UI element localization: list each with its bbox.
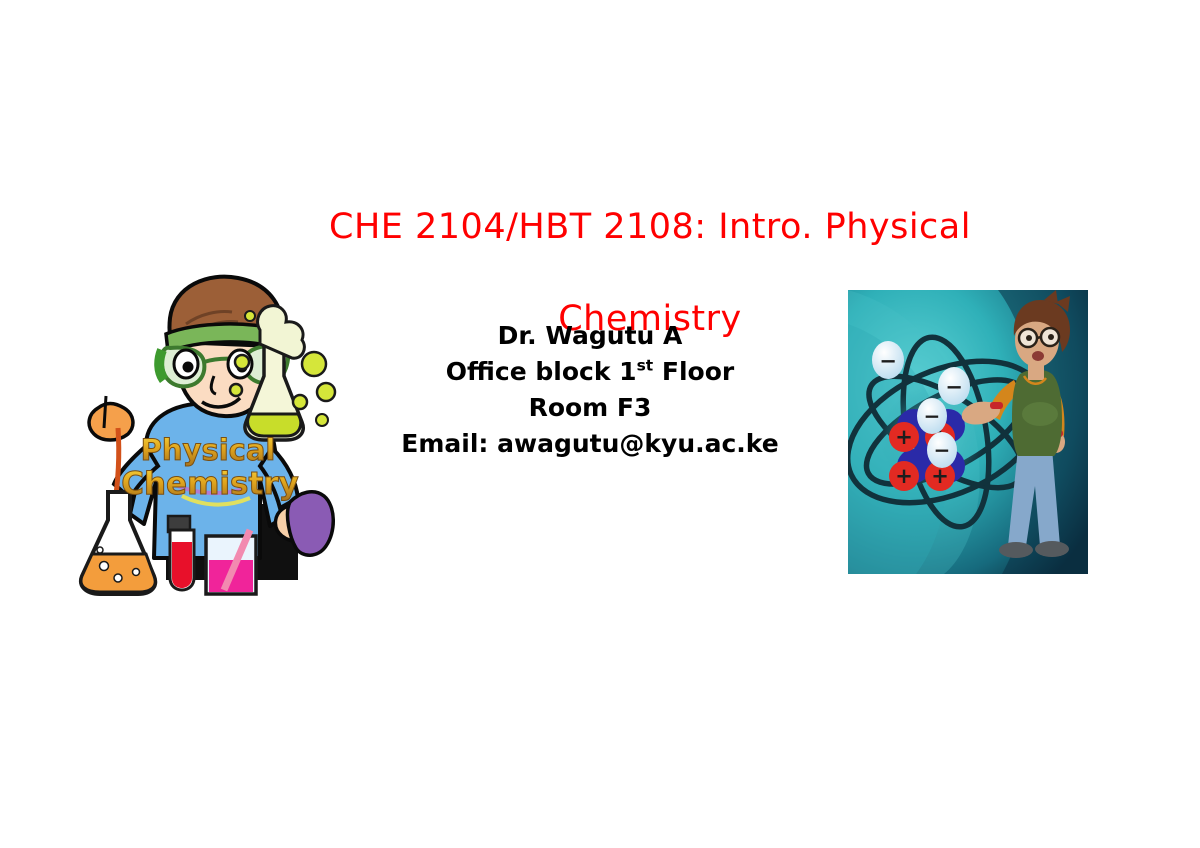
eye-right [1048,334,1054,340]
red-test-tube [168,516,194,590]
orange-bubble-3 [133,569,140,576]
electron-4-symbol: − [934,438,951,462]
presenter-details: Dr. Wagutu A Office block 1st Floor Room… [330,318,850,462]
eye-left [1026,335,1032,341]
shoe-left [999,542,1033,558]
caption-line-1: Physical [141,433,276,467]
office-location-suffix: Floor [653,357,734,386]
orange-bubble-2 [114,574,122,582]
bubble-3 [235,355,249,369]
orange-bubble-4 [97,547,103,553]
slide-canvas: CHE 2104/HBT 2108: Intro. Physical Chemi… [0,0,1200,848]
orange-bubble-1 [100,562,109,571]
atom-presenter-image: + + + + − − − − [848,290,1088,574]
orange-flask-liquid [81,554,155,592]
atom-presenter-svg: + + + + − − − − [848,290,1088,574]
bubble-4 [230,384,242,396]
title-line-1: CHE 2104/HBT 2108: Intro. Physical [300,204,1000,250]
proton-3-symbol: + [895,464,913,488]
shoe-right [1035,541,1069,557]
proton-1-symbol: + [895,425,913,449]
bubble-5 [293,395,307,409]
goggle-side-left [159,350,164,380]
glasses-bridge [1037,337,1041,338]
mouth [1032,351,1044,361]
ordinal-suffix: st [637,357,654,375]
pink-beaker [206,530,256,594]
email-address: Email: awagutu@kyu.ac.ke [330,426,850,462]
electron-3-symbol: − [924,404,941,428]
chemistry-boy-svg: Physical Chemistry [74,268,346,598]
shirt-highlight [1022,402,1058,426]
chemistry-boy-clipart: Physical Chemistry [74,268,346,598]
office-location-prefix: Office block 1 [446,357,637,386]
bubble-6 [245,311,255,321]
bubble-2 [317,383,335,401]
bubble-1 [302,352,326,376]
pupil-left [183,362,194,373]
office-location: Office block 1st Floor [330,354,850,390]
electron-2-symbol: − [945,375,963,399]
bubble-7 [316,414,328,426]
test-tube-liquid [172,542,192,588]
wristband-left [990,402,1003,409]
room-number: Room F3 [330,390,850,426]
electron-1-symbol: − [879,349,897,373]
caption-line-2: Chemistry [121,466,299,502]
left-hand [89,404,133,441]
finger-line [104,396,106,428]
presenter-name: Dr. Wagutu A [330,318,850,354]
